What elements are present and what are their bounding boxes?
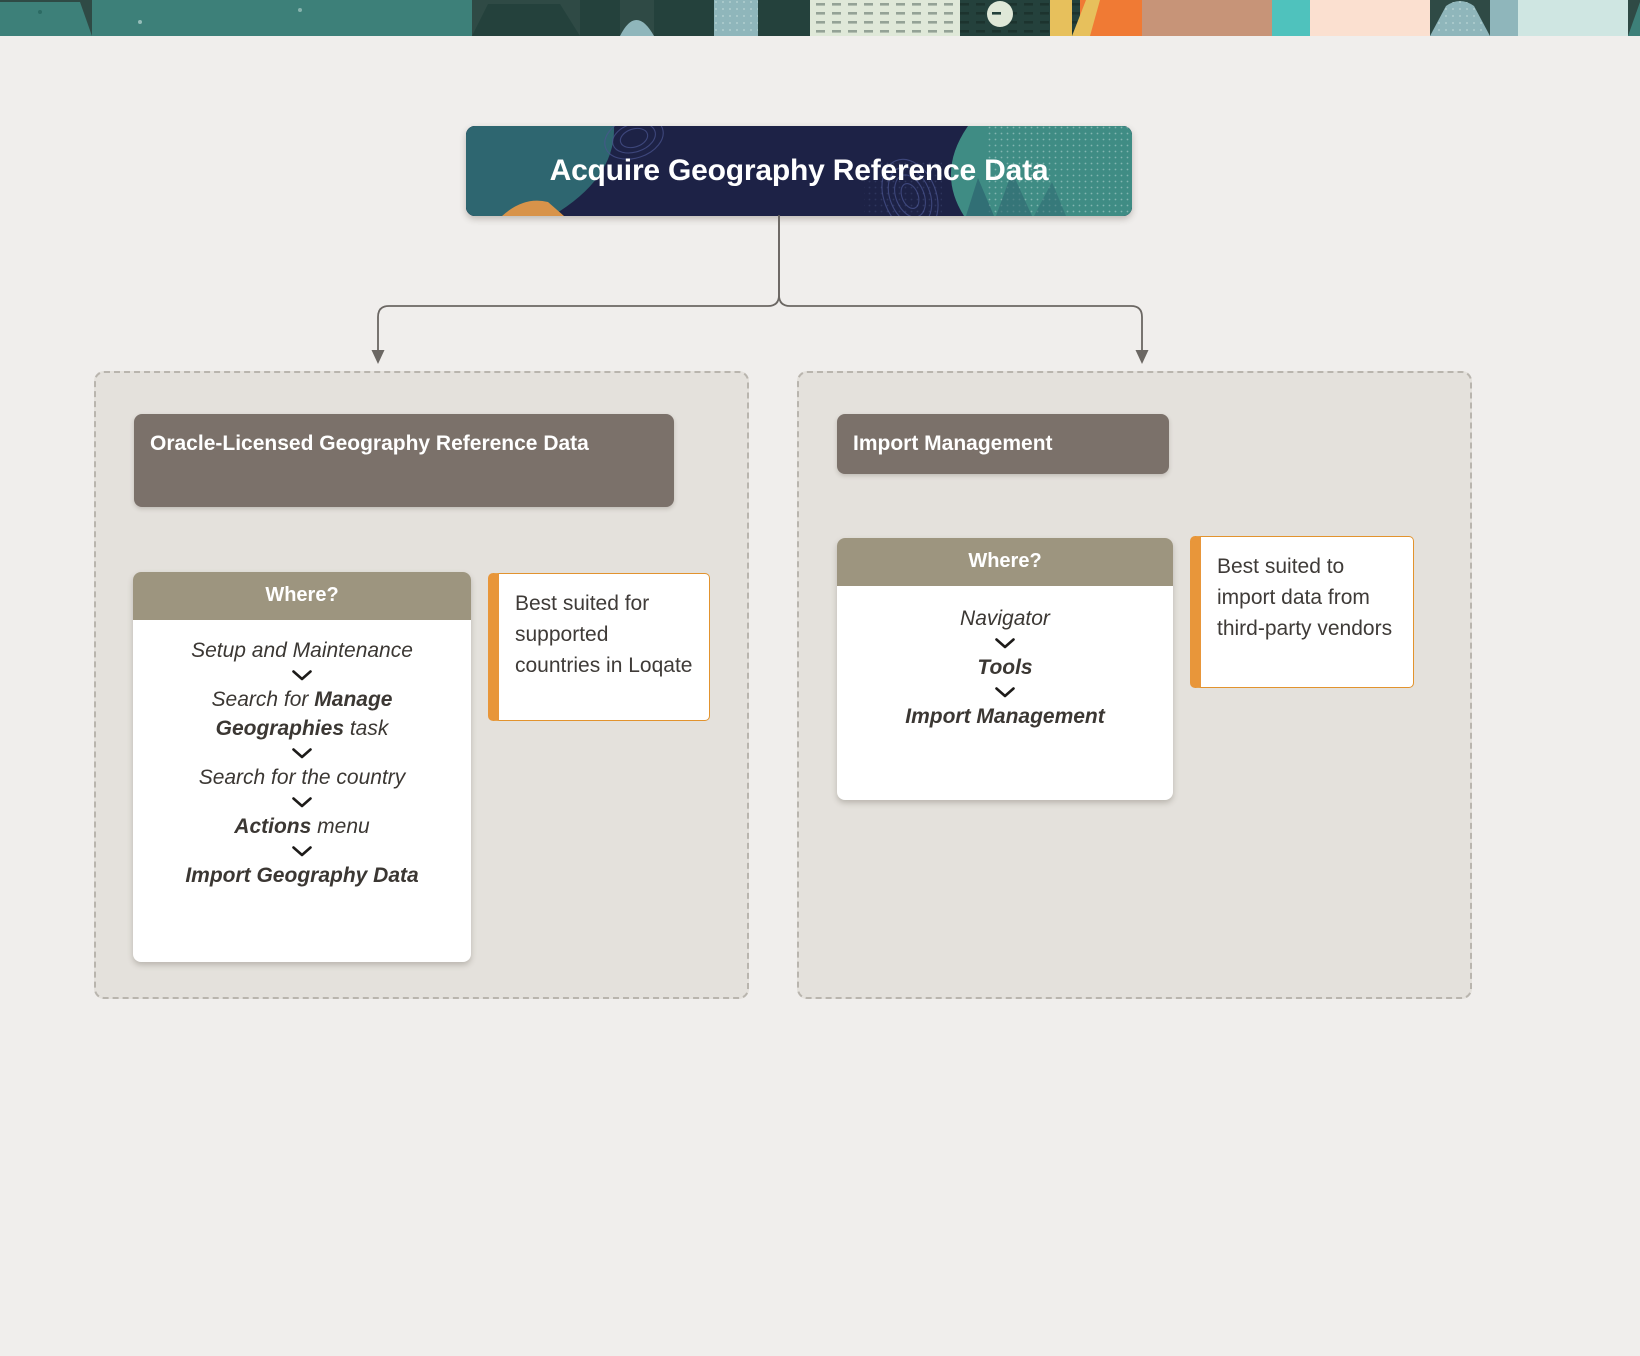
- where-card-oracle-licensed: Where? Setup and Maintenance Search for …: [133, 572, 471, 962]
- step-item: Import Geography Data: [151, 861, 453, 890]
- step-item: Import Management: [855, 702, 1155, 731]
- top-decorative-band: [0, 0, 1640, 36]
- step-item: Actions menu: [151, 812, 453, 841]
- callout-import-management: Best suited to import data from third-pa…: [1190, 536, 1414, 688]
- step-item: Setup and Maintenance: [151, 636, 453, 665]
- connector-root-to-left: [378, 216, 779, 352]
- arrowhead-left: [372, 350, 385, 364]
- root-title-banner: Acquire Geography Reference Data: [466, 126, 1132, 216]
- step-text-emphasis: Import Geography Data: [185, 864, 418, 887]
- step-item: Navigator: [855, 604, 1155, 633]
- chevron-down-icon: [291, 845, 313, 858]
- where-card-steps-oracle-licensed: Setup and Maintenance Search for Manage …: [133, 620, 471, 910]
- step-text: task: [344, 717, 388, 740]
- connector-root-to-right: [779, 216, 1142, 352]
- step-item: Search for the country: [151, 763, 453, 792]
- step-item: Tools: [855, 653, 1155, 682]
- step-text: Search for the country: [199, 766, 406, 789]
- where-card-header-label: Where?: [837, 538, 1173, 586]
- chevron-down-icon: [291, 747, 313, 760]
- chevron-down-icon: [291, 669, 313, 682]
- branch-heading-import-management: Import Management: [837, 414, 1169, 474]
- chevron-down-icon: [994, 686, 1016, 699]
- where-card-header-label: Where?: [133, 572, 471, 620]
- step-text: menu: [311, 815, 369, 838]
- step-text: Setup and Maintenance: [191, 639, 413, 662]
- step-text: Navigator: [960, 607, 1050, 630]
- arrowhead-right: [1136, 350, 1149, 364]
- step-text-emphasis: Import Management: [905, 705, 1105, 728]
- callout-oracle-licensed: Best suited for supported countries in L…: [488, 573, 710, 721]
- step-text-emphasis: Actions: [234, 815, 311, 838]
- chevron-down-icon: [291, 796, 313, 809]
- branch-heading-oracle-licensed: Oracle-Licensed Geography Reference Data: [134, 414, 674, 507]
- step-text: Search for: [212, 688, 315, 711]
- where-card-import-management: Where? Navigator Tools Import Management: [837, 538, 1173, 800]
- root-title-text: Acquire Geography Reference Data: [466, 126, 1132, 216]
- chevron-down-icon: [994, 637, 1016, 650]
- step-text-emphasis: Tools: [977, 656, 1032, 679]
- step-item: Search for Manage Geographies task: [151, 685, 453, 743]
- where-card-steps-import-management: Navigator Tools Import Management: [837, 586, 1173, 753]
